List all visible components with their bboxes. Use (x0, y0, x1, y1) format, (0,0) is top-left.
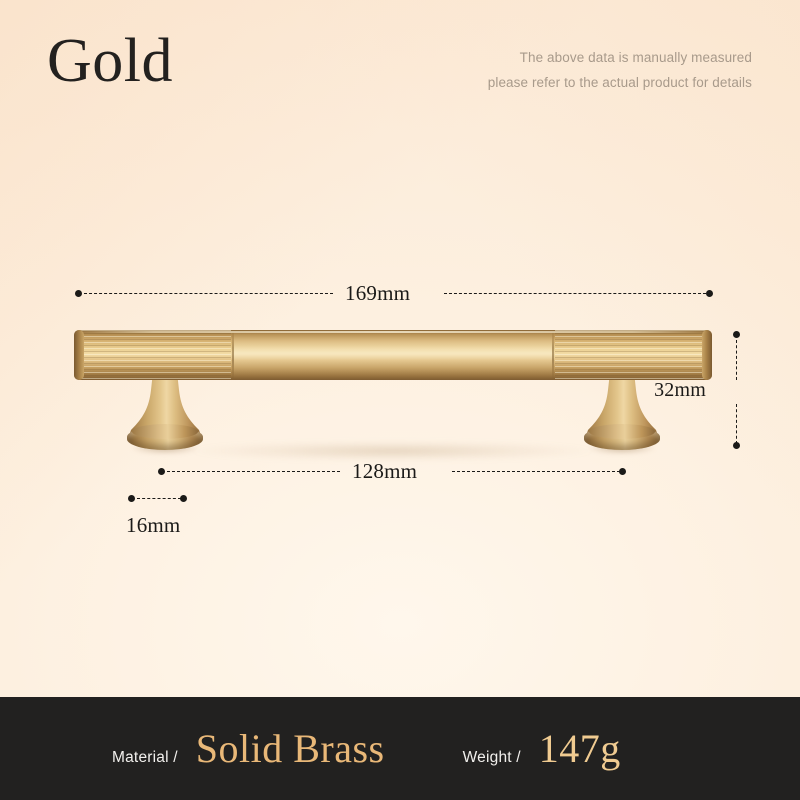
spec-weight-value: 147g (539, 729, 621, 769)
bar-seam-left (232, 331, 234, 379)
bar-center-gloss (234, 332, 552, 378)
dim-line-lower-segment (736, 404, 737, 444)
handle-post-left (127, 372, 203, 450)
bar-fluting-left (76, 330, 231, 380)
spec-footer-bar: Material / Solid Brass Weight / 147g (0, 697, 800, 800)
dim-label-overall-length: 169mm (345, 281, 410, 306)
dim-dot-top (733, 331, 740, 338)
handle-post-right (584, 372, 660, 450)
bar-end-cap-left (74, 330, 84, 380)
dim-dot-left-cc (158, 468, 165, 475)
dim-line-right-segment (444, 293, 706, 294)
dim-dot-left (75, 290, 82, 297)
spec-weight: Weight / 147g (463, 729, 621, 769)
post-base-top-left (132, 424, 198, 439)
dim-dot-right-dia (180, 495, 187, 502)
dim-line-upper-segment (736, 340, 737, 380)
spec-material-value: Solid Brass (196, 729, 385, 769)
product-illustration: 169mm 32mm 128mm 16mm (0, 0, 800, 697)
spec-material-label: Material / (112, 749, 178, 767)
dim-line-left-segment-cc (167, 471, 340, 472)
spec-material: Material / Solid Brass (112, 729, 385, 769)
dim-label-center-to-center: 128mm (352, 459, 417, 484)
spec-weight-label: Weight / (463, 749, 521, 767)
dim-label-bar-diameter: 16mm (126, 513, 180, 538)
bar-seam-right (552, 331, 554, 379)
bar-top-highlight (78, 331, 708, 333)
product-spec-page: Gold The above data is manually measured… (0, 0, 800, 800)
dim-line-left-segment (84, 293, 333, 294)
dim-label-height: 32mm (654, 379, 706, 402)
handle-bar (74, 330, 712, 380)
dim-dot-bottom (733, 442, 740, 449)
bar-fluting-right (555, 330, 710, 380)
dim-line-diameter (137, 498, 181, 499)
dim-dot-left-dia (128, 495, 135, 502)
bar-end-cap-right (702, 330, 712, 380)
dim-line-right-segment-cc (452, 471, 620, 472)
dim-dot-right (706, 290, 713, 297)
dim-dot-right-cc (619, 468, 626, 475)
post-base-top-right (589, 424, 655, 439)
